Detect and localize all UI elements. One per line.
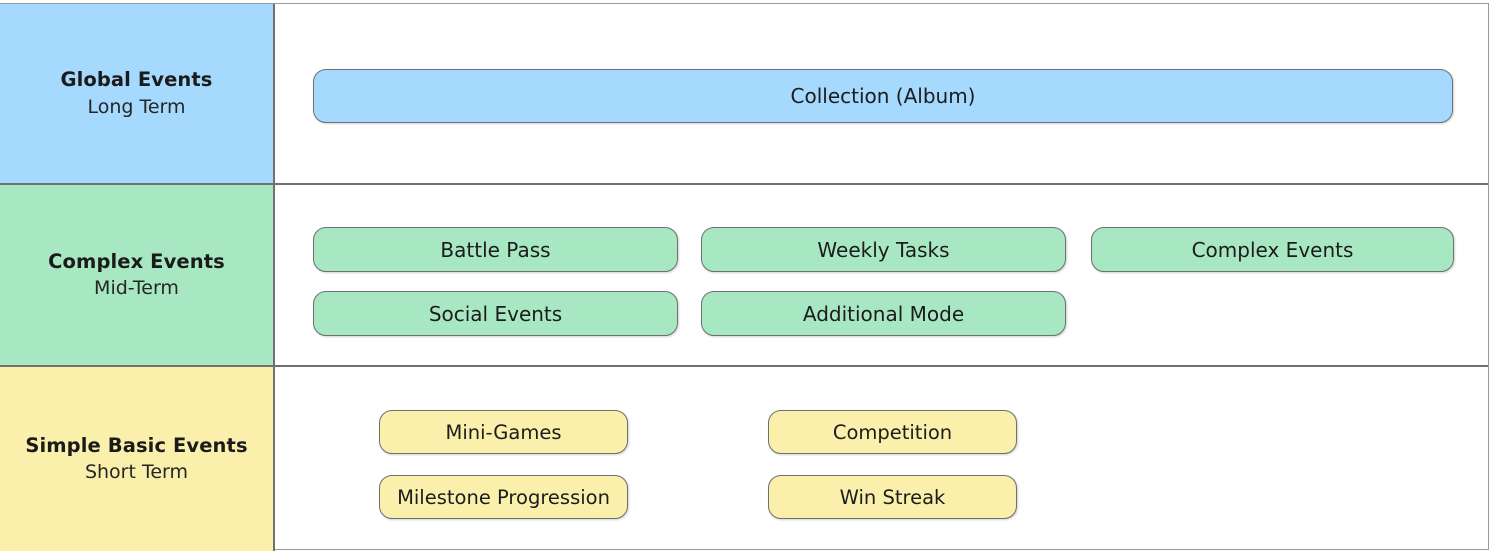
event-taxonomy-diagram: Global Events Long Term Collection (Albu… [0,3,1489,550]
row-content-global: Collection (Album) [277,4,1488,183]
row-label-global: Global Events Long Term [0,4,275,183]
row-content-complex: Battle Pass Weekly Tasks Complex Events … [277,185,1488,365]
pill-win-streak[interactable]: Win Streak [768,475,1017,519]
row-subtitle-simple: Short Term [85,460,188,485]
pill-weekly-tasks[interactable]: Weekly Tasks [701,227,1066,272]
pill-competition[interactable]: Competition [768,410,1017,454]
row-title-simple: Simple Basic Events [25,433,247,459]
pill-social-events[interactable]: Social Events [313,291,678,336]
row-subtitle-complex: Mid-Term [94,276,179,301]
row-label-simple: Simple Basic Events Short Term [0,367,275,551]
pill-additional-mode[interactable]: Additional Mode [701,291,1066,336]
diagram-row-complex: Complex Events Mid-Term Battle Pass Week… [0,185,1488,367]
row-title-complex: Complex Events [48,249,225,275]
pill-collection-album[interactable]: Collection (Album) [313,69,1453,123]
pill-milestone-progression[interactable]: Milestone Progression [379,475,628,519]
diagram-row-global: Global Events Long Term Collection (Albu… [0,4,1488,185]
pill-battle-pass[interactable]: Battle Pass [313,227,678,272]
diagram-row-simple: Simple Basic Events Short Term Mini-Game… [0,367,1488,551]
row-content-simple: Mini-Games Competition Milestone Progres… [277,367,1488,551]
row-label-complex: Complex Events Mid-Term [0,185,275,365]
pill-complex-events[interactable]: Complex Events [1091,227,1454,272]
row-subtitle-global: Long Term [87,95,185,120]
row-title-global: Global Events [60,67,212,93]
pill-mini-games[interactable]: Mini-Games [379,410,628,454]
